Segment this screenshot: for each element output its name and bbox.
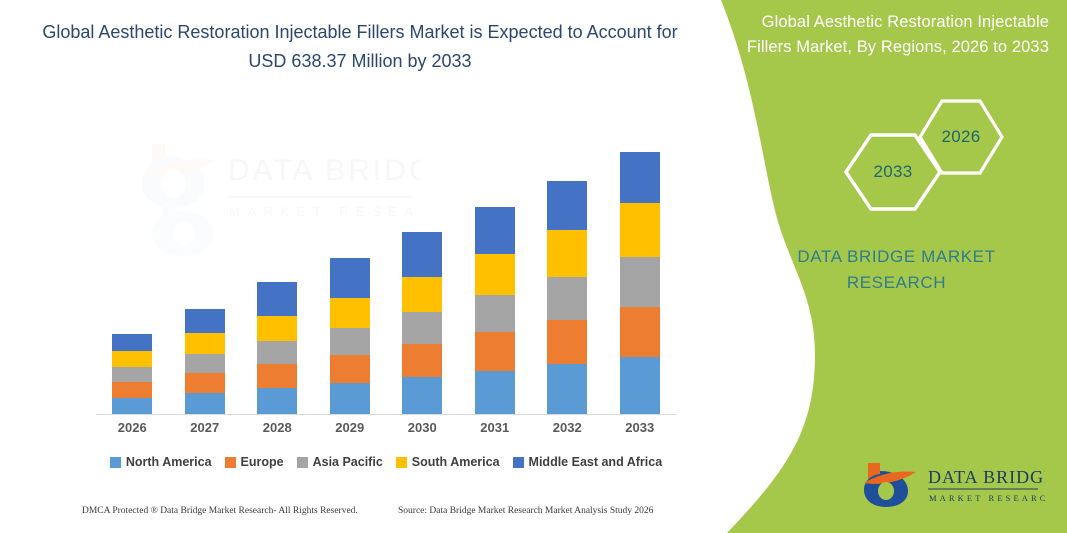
footer-copyright: DMCA Protected ® Data Bridge Market Rese… xyxy=(82,506,358,516)
bar-segment xyxy=(257,364,297,388)
bar-segment xyxy=(257,341,297,364)
bar-segment xyxy=(112,367,152,382)
page-title: Global Aesthetic Restoration Injectable … xyxy=(40,18,680,76)
bar-segment xyxy=(402,277,442,312)
bar-segment xyxy=(257,282,297,316)
bar-group xyxy=(620,152,660,415)
panel-brand-line1: DATA BRIDGE MARKET xyxy=(774,244,1019,270)
panel-title: Global Aesthetic Restoration Injectable … xyxy=(724,10,1049,60)
bar-group xyxy=(330,258,370,415)
x-axis-label: 2032 xyxy=(532,420,602,435)
bar-segment xyxy=(620,257,660,307)
hexagon-2026: 2026 xyxy=(918,99,1004,175)
legend-swatch xyxy=(225,457,236,468)
legend-swatch xyxy=(396,457,407,468)
x-axis-label: 2028 xyxy=(242,420,312,435)
chart-legend: North AmericaEuropeAsia PacificSouth Ame… xyxy=(96,455,676,469)
logo-primary-text: DATA BRIDGE xyxy=(928,467,1045,487)
x-axis-line xyxy=(96,414,676,415)
footer-source: Source: Data Bridge Market Research Mark… xyxy=(398,506,653,516)
x-axis-label: 2033 xyxy=(605,420,675,435)
bar-segment xyxy=(402,312,442,344)
x-axis-label: 2031 xyxy=(460,420,530,435)
legend-item[interactable]: South America xyxy=(396,455,500,469)
legend-item[interactable]: North America xyxy=(110,455,212,469)
bar-segment xyxy=(112,334,152,351)
bar-segment xyxy=(330,355,370,383)
x-axis-label: 2030 xyxy=(387,420,457,435)
bar-group xyxy=(185,309,225,415)
bar-segment xyxy=(620,152,660,203)
bar-segment xyxy=(620,357,660,415)
legend-item[interactable]: Middle East and Africa xyxy=(513,455,663,469)
logo-secondary-text: MARKET RESEARCH xyxy=(929,493,1045,503)
bar-group xyxy=(257,282,297,415)
bar-segment xyxy=(185,373,225,393)
bar-segment xyxy=(547,181,587,230)
bar-segment xyxy=(620,203,660,257)
legend-label: North America xyxy=(126,455,212,469)
bar-segment xyxy=(547,364,587,415)
bar-segment xyxy=(185,309,225,333)
bar-segment xyxy=(547,320,587,364)
bar-segment xyxy=(185,333,225,354)
legend-swatch xyxy=(110,457,121,468)
legend-label: Asia Pacific xyxy=(313,455,383,469)
legend-label: South America xyxy=(412,455,500,469)
bar-segment xyxy=(257,316,297,341)
bar-group xyxy=(112,334,152,415)
hexagon-2026-label: 2026 xyxy=(918,99,1004,175)
bar-segment xyxy=(475,254,515,295)
bar-segment xyxy=(475,207,515,254)
logo-b-mark xyxy=(864,463,916,507)
legend-swatch xyxy=(513,457,524,468)
bar-group xyxy=(475,207,515,415)
infographic-root: Global Aesthetic Restoration Injectable … xyxy=(0,0,1067,533)
bar-segment xyxy=(330,258,370,298)
bar-segment xyxy=(547,230,587,277)
data-bridge-logo: DATA BRIDGE MARKET RESEARCH xyxy=(860,461,1045,509)
bar-segment xyxy=(185,354,225,373)
bar-segment xyxy=(475,295,515,332)
bar-segment xyxy=(402,344,442,377)
bar-segment xyxy=(475,332,515,371)
bar-group xyxy=(402,232,442,415)
footer: DMCA Protected ® Data Bridge Market Rese… xyxy=(0,506,700,528)
bar-segment xyxy=(330,383,370,415)
legend-item[interactable]: Europe xyxy=(225,455,284,469)
x-axis-label: 2026 xyxy=(97,420,167,435)
legend-item[interactable]: Asia Pacific xyxy=(297,455,383,469)
bar-segment xyxy=(547,277,587,320)
bar-segment xyxy=(185,393,225,415)
bar-segment xyxy=(112,382,152,398)
legend-swatch xyxy=(297,457,308,468)
panel-brand-line2: RESEARCH xyxy=(774,270,1019,296)
bar-segment xyxy=(620,307,660,357)
bar-segment xyxy=(402,232,442,277)
bar-segment xyxy=(402,377,442,415)
bar-segment xyxy=(330,298,370,328)
bar-group xyxy=(547,181,587,415)
legend-label: Europe xyxy=(241,455,284,469)
stacked-bar-chart xyxy=(96,100,676,415)
x-axis-label: 2027 xyxy=(170,420,240,435)
bar-segment xyxy=(330,328,370,355)
hexagon-badges: 2033 2026 xyxy=(844,99,1004,211)
legend-label: Middle East and Africa xyxy=(529,455,663,469)
bar-segment xyxy=(112,398,152,415)
panel-brand-text: DATA BRIDGE MARKET RESEARCH xyxy=(774,244,1019,296)
x-axis-labels: 20262027202820292030203120322033 xyxy=(96,420,676,444)
bar-segment xyxy=(475,371,515,415)
bar-segment xyxy=(257,388,297,415)
bar-segment xyxy=(112,351,152,367)
x-axis-label: 2029 xyxy=(315,420,385,435)
